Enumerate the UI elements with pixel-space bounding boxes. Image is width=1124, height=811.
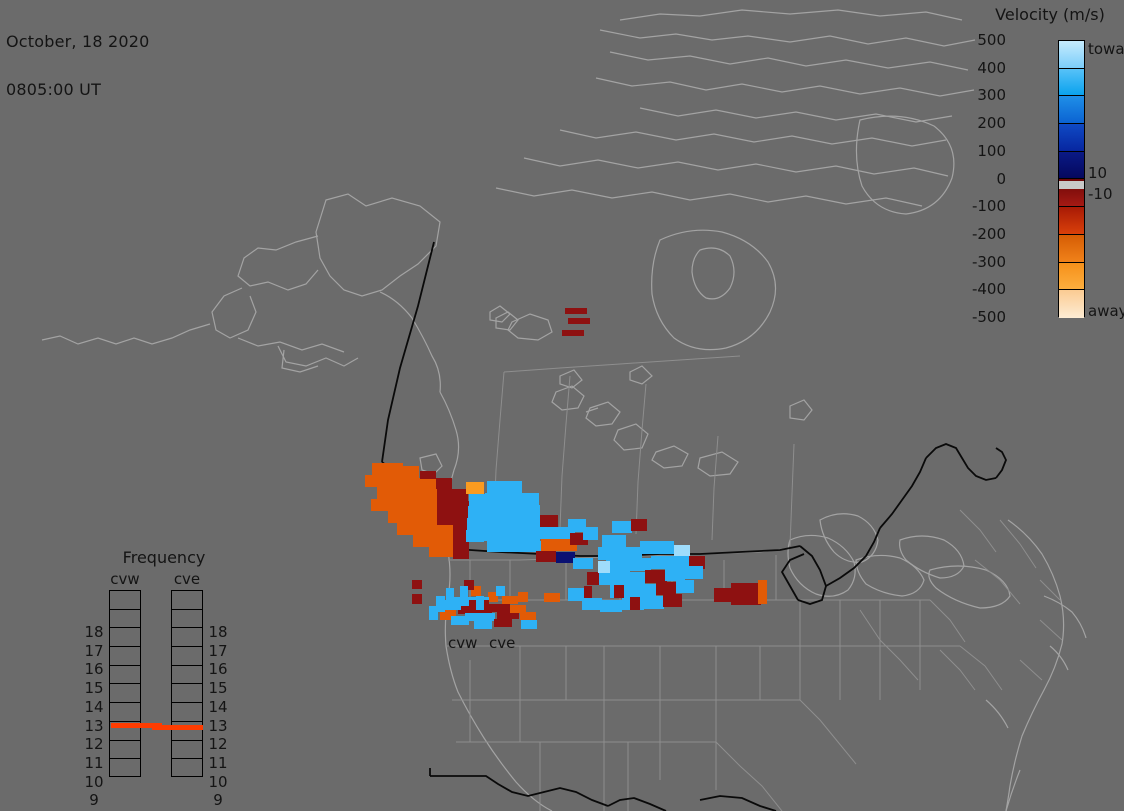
radar-cell (372, 463, 388, 475)
radar-cell (412, 594, 422, 604)
frequency-label-left-17: 17 (82, 642, 106, 660)
radar-cell (494, 619, 512, 627)
frequency-cell-cvw-8 (110, 741, 140, 760)
velocity-colorbar-band-0 (1059, 41, 1084, 69)
timestamp-time: 0805:00 UT (6, 82, 150, 98)
radar-cell (466, 482, 484, 494)
velocity-tick-400: 400 (977, 59, 1006, 77)
radar-cell (518, 592, 528, 602)
radar-cell (587, 572, 599, 585)
radar-cell (485, 493, 504, 505)
radar-cell (403, 490, 420, 502)
radar-cell (584, 586, 592, 598)
frequency-cell-cvw-3 (110, 647, 140, 666)
radar-cell (522, 517, 540, 529)
velocity-colorbar-band-3 (1059, 124, 1084, 152)
frequency-label-left-9: 9 (82, 791, 106, 809)
radar-cell (663, 594, 682, 607)
radar-cell (562, 330, 584, 336)
frequency-label-right-18: 18 (206, 623, 230, 641)
radar-cell (403, 502, 420, 514)
radar-cell (388, 463, 403, 475)
radar-cell (521, 620, 537, 629)
velocity-tick--100: -100 (972, 197, 1006, 215)
radar-cell (565, 308, 587, 314)
radar-cell (505, 541, 523, 552)
map-station-label-cve: cve (489, 634, 515, 652)
radar-cell (403, 478, 420, 490)
frequency-cell-cve-1 (172, 610, 202, 629)
radar-cell (640, 541, 658, 554)
radar-cell (597, 572, 621, 585)
velocity-toward-label: toward (1088, 40, 1124, 58)
radar-cell (429, 547, 453, 557)
velocity-tick--400: -400 (972, 280, 1006, 298)
radar-cell (468, 506, 486, 518)
radar-cell (685, 566, 703, 579)
frequency-column-label-cve: cve (164, 570, 210, 588)
frequency-label-left-15: 15 (82, 679, 106, 697)
frequency-label-left-16: 16 (82, 660, 106, 678)
radar-cell (504, 493, 522, 505)
velocity-inner-low-label: -10 (1088, 185, 1113, 203)
frequency-label-left-18: 18 (82, 623, 106, 641)
radar-cell (541, 539, 559, 551)
velocity-tick-500: 500 (977, 31, 1006, 49)
velocity-colorbar-band-4 (1059, 152, 1084, 180)
radar-cell (484, 529, 503, 541)
velocity-tick--500: -500 (972, 308, 1006, 326)
radar-cell (476, 596, 484, 610)
frequency-cell-cvw-4 (110, 666, 140, 685)
frequency-label-left-10: 10 (82, 773, 106, 791)
frequency-cell-cvw-0 (110, 591, 140, 610)
radar-cell (520, 612, 536, 620)
radar-cell (504, 517, 522, 529)
radar-cell (437, 525, 453, 537)
frequency-label-right-9: 9 (206, 791, 230, 809)
radar-cell (467, 518, 485, 530)
velocity-map-canvas: cvw cve October, 18 2020 0805:00 UT Velo… (0, 0, 1124, 811)
radar-cell (437, 513, 453, 525)
radar-cell (758, 580, 767, 604)
radar-cell (420, 471, 436, 479)
velocity-colorbar-band-7 (1059, 235, 1084, 263)
radar-cell (630, 597, 640, 610)
radar-cell (382, 475, 403, 487)
frequency-scale-cvw (109, 590, 141, 777)
velocity-colorbar-band-1 (1059, 69, 1084, 97)
velocity-tick-300: 300 (977, 86, 1006, 104)
velocity-tick-100: 100 (977, 142, 1006, 160)
velocity-colorbar (1058, 40, 1085, 317)
radar-cell (540, 527, 558, 539)
frequency-cell-cvw-6 (110, 703, 140, 722)
velocity-tick-0: 0 (996, 170, 1006, 188)
radar-cell (502, 596, 518, 604)
velocity-colorbar-band-2 (1059, 96, 1084, 124)
radar-cell (465, 613, 495, 621)
frequency-cell-cvw-2 (110, 628, 140, 647)
radar-cell (487, 541, 505, 552)
radar-cell (420, 501, 437, 513)
radar-cell (582, 598, 602, 610)
velocity-inner-high-label: 10 (1088, 164, 1107, 182)
velocity-legend-title: Velocity (m/s) (976, 5, 1124, 24)
velocity-legend: Velocity (m/s) 5004003002001000-100-200-… (968, 2, 1124, 332)
radar-cell (451, 616, 469, 625)
radar-cell (573, 558, 593, 569)
frequency-label-right-11: 11 (206, 754, 230, 772)
frequency-label-left-11: 11 (82, 754, 106, 772)
radar-cell (403, 466, 419, 478)
radar-cell (412, 580, 422, 589)
radar-cell (614, 585, 624, 598)
frequency-label-right-16: 16 (206, 660, 230, 678)
radar-cell (536, 551, 556, 562)
radar-cell (496, 586, 505, 596)
frequency-column-label-cvw: cvw (102, 570, 148, 588)
radar-cell (521, 529, 540, 541)
radar-cell (453, 501, 469, 513)
frequency-scale-cve (171, 590, 203, 777)
radar-cell (429, 606, 438, 620)
radar-cell (437, 489, 452, 501)
radar-cell (371, 499, 403, 511)
radar-cell (460, 586, 468, 598)
velocity-colorbar-band-6 (1059, 207, 1084, 235)
radar-cell (598, 561, 610, 573)
radar-cell (437, 501, 453, 513)
frequency-label-right-12: 12 (206, 735, 230, 753)
radar-cell (420, 489, 437, 501)
frequency-label-left-12: 12 (82, 735, 106, 753)
radar-cell (522, 493, 539, 505)
frequency-label-right-15: 15 (206, 679, 230, 697)
radar-cell (568, 318, 590, 324)
frequency-label-right-17: 17 (206, 642, 230, 660)
radar-cell (453, 548, 469, 559)
velocity-tick-200: 200 (977, 114, 1006, 132)
frequency-cell-cve-5 (172, 684, 202, 703)
radar-cell (436, 478, 452, 489)
frequency-label-right-13: 13 (206, 717, 230, 735)
radar-cell (446, 588, 454, 602)
frequency-cell-cve-4 (172, 666, 202, 685)
radar-cell (505, 481, 522, 493)
radar-cell (676, 580, 694, 593)
radar-cell (544, 593, 560, 602)
frequency-cell-cve-3 (172, 647, 202, 666)
radar-cell (365, 475, 382, 487)
radar-cell (388, 511, 403, 523)
velocity-tick--200: -200 (972, 225, 1006, 243)
frequency-label-left-13: 13 (82, 717, 106, 735)
radar-cell (631, 519, 647, 531)
velocity-tick--300: -300 (972, 253, 1006, 271)
radar-cell (397, 523, 419, 535)
velocity-colorbar-band-8 (1059, 263, 1084, 291)
velocity-colorbar-zero-band (1058, 181, 1085, 189)
velocity-away-label: away (1088, 302, 1124, 320)
radar-cell (600, 600, 622, 612)
frequency-cell-cve-9 (172, 759, 202, 778)
frequency-label-right-14: 14 (206, 698, 230, 716)
frequency-label-right-10: 10 (206, 773, 230, 791)
radar-cell (420, 478, 436, 489)
velocity-colorbar-band-9 (1059, 290, 1084, 318)
frequency-marker-cve (152, 725, 203, 730)
radar-cell (485, 517, 504, 529)
frequency-cell-cve-0 (172, 591, 202, 610)
frequency-cell-cve-2 (172, 628, 202, 647)
radar-cell (643, 596, 664, 609)
radar-cell (658, 541, 674, 554)
radar-cell (474, 621, 492, 629)
radar-cell (413, 535, 437, 547)
radar-cell (612, 521, 632, 533)
radar-cell (487, 481, 505, 493)
frequency-legend: Frequency cvw cve 18171615141312111098 1… (86, 548, 242, 786)
radar-cell (540, 515, 558, 527)
radar-cell (420, 513, 437, 525)
frequency-cell-cvw-1 (110, 610, 140, 629)
radar-cell (486, 505, 504, 517)
radar-cell (503, 529, 521, 541)
timestamp: October, 18 2020 0805:00 UT (6, 2, 150, 130)
frequency-cell-cvw-5 (110, 684, 140, 703)
radar-cell (583, 527, 598, 540)
frequency-legend-title: Frequency (86, 548, 242, 567)
map-station-label-cvw: cvw (448, 634, 477, 652)
frequency-cell-cve-6 (172, 703, 202, 722)
radar-cell (731, 583, 761, 605)
radar-cell (522, 505, 540, 517)
radar-cell (714, 588, 733, 602)
frequency-cell-cve-8 (172, 741, 202, 760)
radar-cell (466, 530, 484, 542)
radar-cell (377, 487, 403, 499)
frequency-cell-cvw-9 (110, 759, 140, 778)
frequency-label-left-14: 14 (82, 698, 106, 716)
radar-cell (504, 505, 522, 517)
timestamp-date: October, 18 2020 (6, 34, 150, 50)
